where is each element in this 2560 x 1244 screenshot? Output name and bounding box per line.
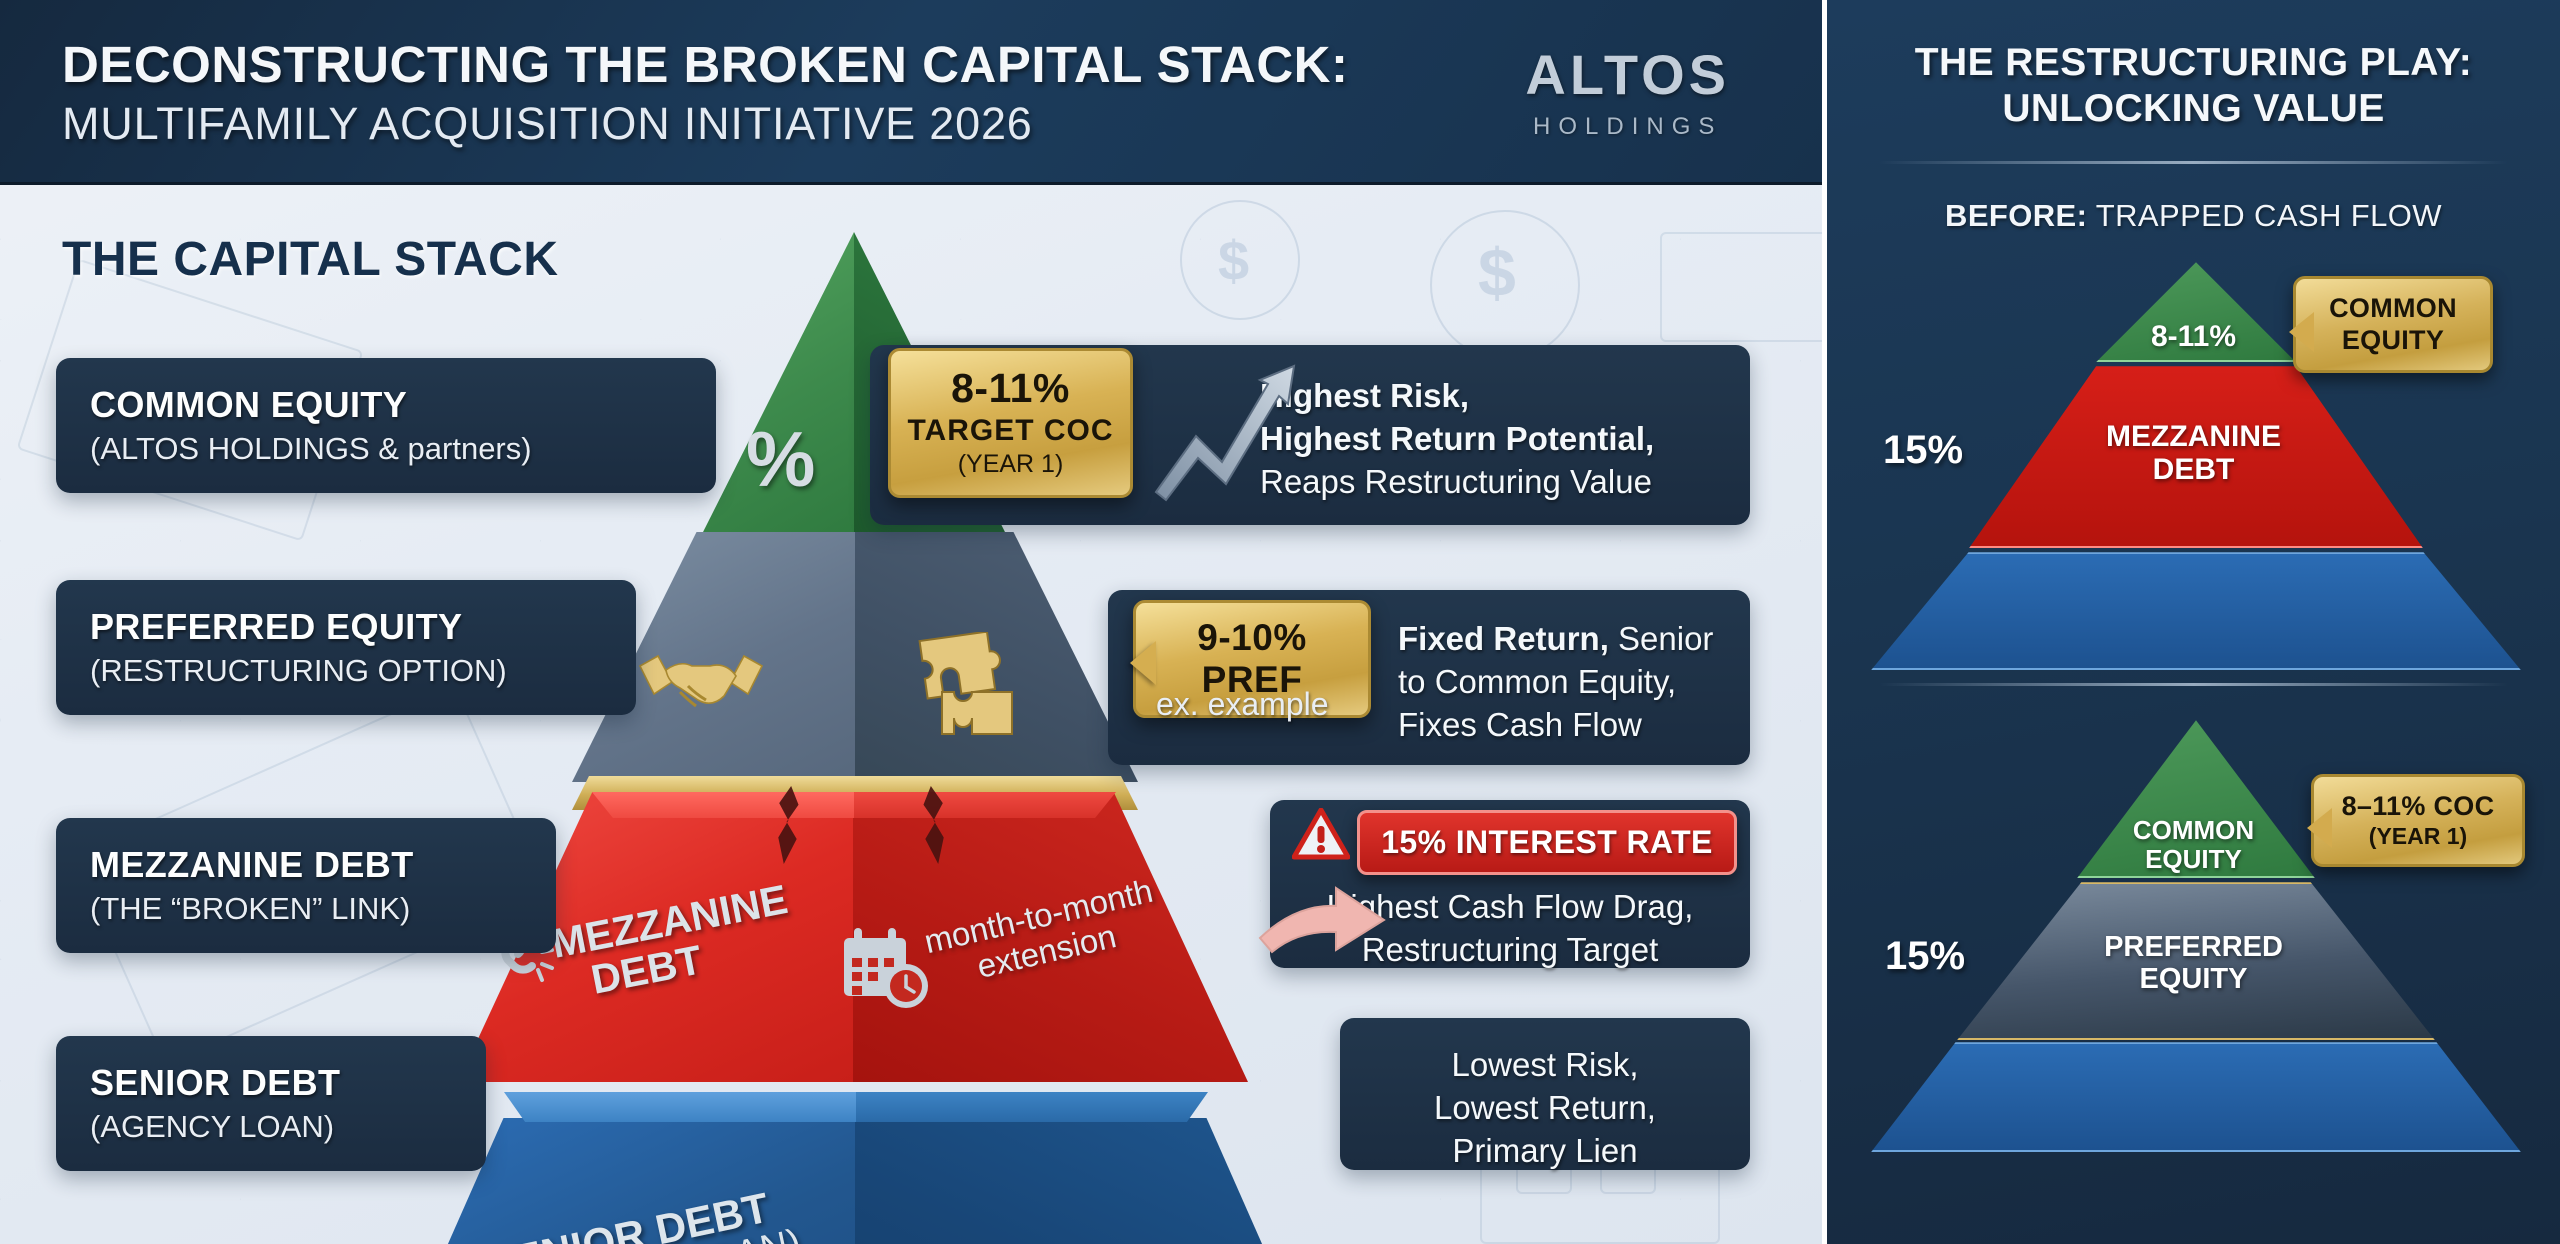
tier-desc-text: Lowest Risk, Lowest Return, Primary Lien <box>1340 1044 1750 1173</box>
right-title-line2: UNLOCKING VALUE <box>1861 86 2526 132</box>
desc-line1: Senior <box>1609 620 1714 657</box>
tier-label-preferred-equity[interactable]: PREFERRED EQUITY (RESTRUCTURING OPTION) <box>56 580 636 715</box>
header-titles: DECONSTRUCTING THE BROKEN CAPITAL STACK:… <box>62 32 1348 151</box>
calendar-clock-icon <box>838 924 932 1012</box>
mini-pyramid-after: COMMON EQUITY PREFERRED EQUITY 15% 8–11%… <box>1827 720 2560 1050</box>
warning-triangle-icon <box>1292 808 1350 860</box>
tier-label-senior-debt[interactable]: SENIOR DEBT (AGENCY LOAN) <box>56 1036 486 1171</box>
tier-label-common-equity[interactable]: COMMON EQUITY (ALTOS HOLDINGS & partners… <box>56 358 716 493</box>
tier-label-subtitle: (ALTOS HOLDINGS & partners) <box>90 431 682 467</box>
right-panel-title: THE RESTRUCTURING PLAY: UNLOCKING VALUE <box>1861 40 2526 131</box>
pyramid-layer-mezzanine-debt: MEZZANINE DEBT <box>458 792 1248 1104</box>
before-value: TRAPPED CASH FLOW <box>2087 198 2442 233</box>
logo-wordmark: ALTOS <box>1525 42 1730 107</box>
badge-tail-icon <box>1108 641 1156 685</box>
header-bar: DECONSTRUCTING THE BROKEN CAPITAL STACK:… <box>0 0 1822 185</box>
badge-line2: TARGET COC <box>899 414 1122 448</box>
desc-line2: Highest Return Potential, <box>1260 420 1654 457</box>
mini-pyramid-before: 8-11% MEZZANINE DEBT 15% COMMON EQUITY <box>1827 252 2560 627</box>
tier-label-title: COMMON EQUITY <box>90 384 682 426</box>
percent-icon: % <box>746 414 815 505</box>
tier-label-mezzanine-debt[interactable]: MEZZANINE DEBT (THE “BROKEN” LINK) <box>56 818 556 953</box>
before-caption-top: BEFORE: TRAPPED CASH FLOW <box>1827 198 2560 234</box>
example-note: ex. example <box>1156 686 1329 723</box>
right-panel: THE RESTRUCTURING PLAY: UNLOCKING VALUE … <box>1822 0 2560 1244</box>
tier-label-subtitle: (RESTRUCTURING OPTION) <box>90 653 602 689</box>
badge-target-coc[interactable]: 8-11% TARGET COC (YEAR 1) <box>888 348 1133 498</box>
handshake-icon <box>636 636 766 728</box>
infographic-page: $ $ DECONSTRUCTING THE BROKEN CAPITAL ST… <box>0 0 2560 1244</box>
pyramid-layer-preferred-equity <box>572 532 1138 802</box>
mini-side-pct: 15% <box>1883 428 1963 473</box>
dollar-sign-icon: $ <box>1478 234 1516 312</box>
callout-line1: COMMON <box>2302 293 2484 324</box>
left-panel: $ $ DECONSTRUCTING THE BROKEN CAPITAL ST… <box>0 0 1822 1244</box>
pyramid-top-right <box>854 792 1116 818</box>
badge-line1: 8-11% <box>899 365 1122 412</box>
pyramid-face-right <box>855 1118 1330 1244</box>
badge-line3: (YEAR 1) <box>899 450 1122 479</box>
tier-desc-text: Fixed Return, Senior to Common Equity, F… <box>1398 618 1713 747</box>
logo-tagline: HOLDINGS <box>1525 113 1730 141</box>
mini-side-pct: 15% <box>1885 934 1965 979</box>
tier-label-title: PREFERRED EQUITY <box>90 606 602 648</box>
desc-line3: Primary Lien <box>1340 1130 1750 1173</box>
desc-line3: Reaps Restructuring Value <box>1260 463 1652 500</box>
divider <box>1879 683 2508 686</box>
puzzle-piece-icon <box>912 632 1030 742</box>
desc-line2: to Common Equity, <box>1398 663 1676 700</box>
altos-holdings-logo: ALTOS HOLDINGS <box>1525 42 1754 141</box>
desc-bold: Fixed Return, <box>1398 620 1609 657</box>
tier-desc-text: Highest Risk, Highest Return Potential, … <box>1260 375 1654 504</box>
tier-desc-senior-debt[interactable]: Lowest Risk, Lowest Return, Primary Lien <box>1340 1018 1750 1170</box>
callout-line1: 8–11% COC <box>2320 791 2516 822</box>
pyramid-top-right <box>856 1092 1208 1122</box>
mini-layer-senior-debt <box>1871 552 2521 670</box>
before-label: BEFORE: <box>1945 198 2087 233</box>
callout-line2: EQUITY <box>2302 325 2484 356</box>
page-subtitle: MULTIFAMILY ACQUISITION INITIATIVE 2026 <box>62 98 1348 150</box>
callout-tail-icon <box>2269 312 2314 352</box>
tier-label-title: MEZZANINE DEBT <box>90 844 522 886</box>
pyramid-layer-senior-debt: SENIOR DEBT (AGENCY LOAN) % 65-75% LTV <box>380 1092 1330 1244</box>
callout-tail-icon <box>2287 808 2332 848</box>
desc-line3: Fixes Cash Flow <box>1398 706 1642 743</box>
badge-interest-rate[interactable]: 15% INTEREST RATE <box>1357 810 1737 875</box>
growth-arrow-icon <box>1148 352 1308 502</box>
blueprint-rect <box>1660 232 1822 342</box>
tier-label-subtitle: (THE “BROKEN” LINK) <box>90 891 522 927</box>
tier-label-subtitle: (AGENCY LOAN) <box>90 1109 452 1145</box>
divider <box>1879 161 2508 164</box>
callout-line2: (YEAR 1) <box>2320 823 2516 850</box>
pink-arrow-icon <box>1258 880 1388 960</box>
desc-line1: Lowest Risk, <box>1340 1044 1750 1087</box>
tier-label-title: SENIOR DEBT <box>90 1062 452 1104</box>
callout-common-equity[interactable]: COMMON EQUITY <box>2293 276 2493 373</box>
mini-layer-senior-debt <box>1871 1042 2521 1152</box>
pyramid-top-left <box>592 792 854 818</box>
callout-coc[interactable]: 8–11% COC (YEAR 1) <box>2311 774 2525 866</box>
right-title-line1: THE RESTRUCTURING PLAY: <box>1861 40 2526 86</box>
pyramid-top-left <box>504 1092 856 1122</box>
desc-line2: Lowest Return, <box>1340 1087 1750 1130</box>
page-title: DECONSTRUCTING THE BROKEN CAPITAL STACK: <box>62 38 1348 92</box>
